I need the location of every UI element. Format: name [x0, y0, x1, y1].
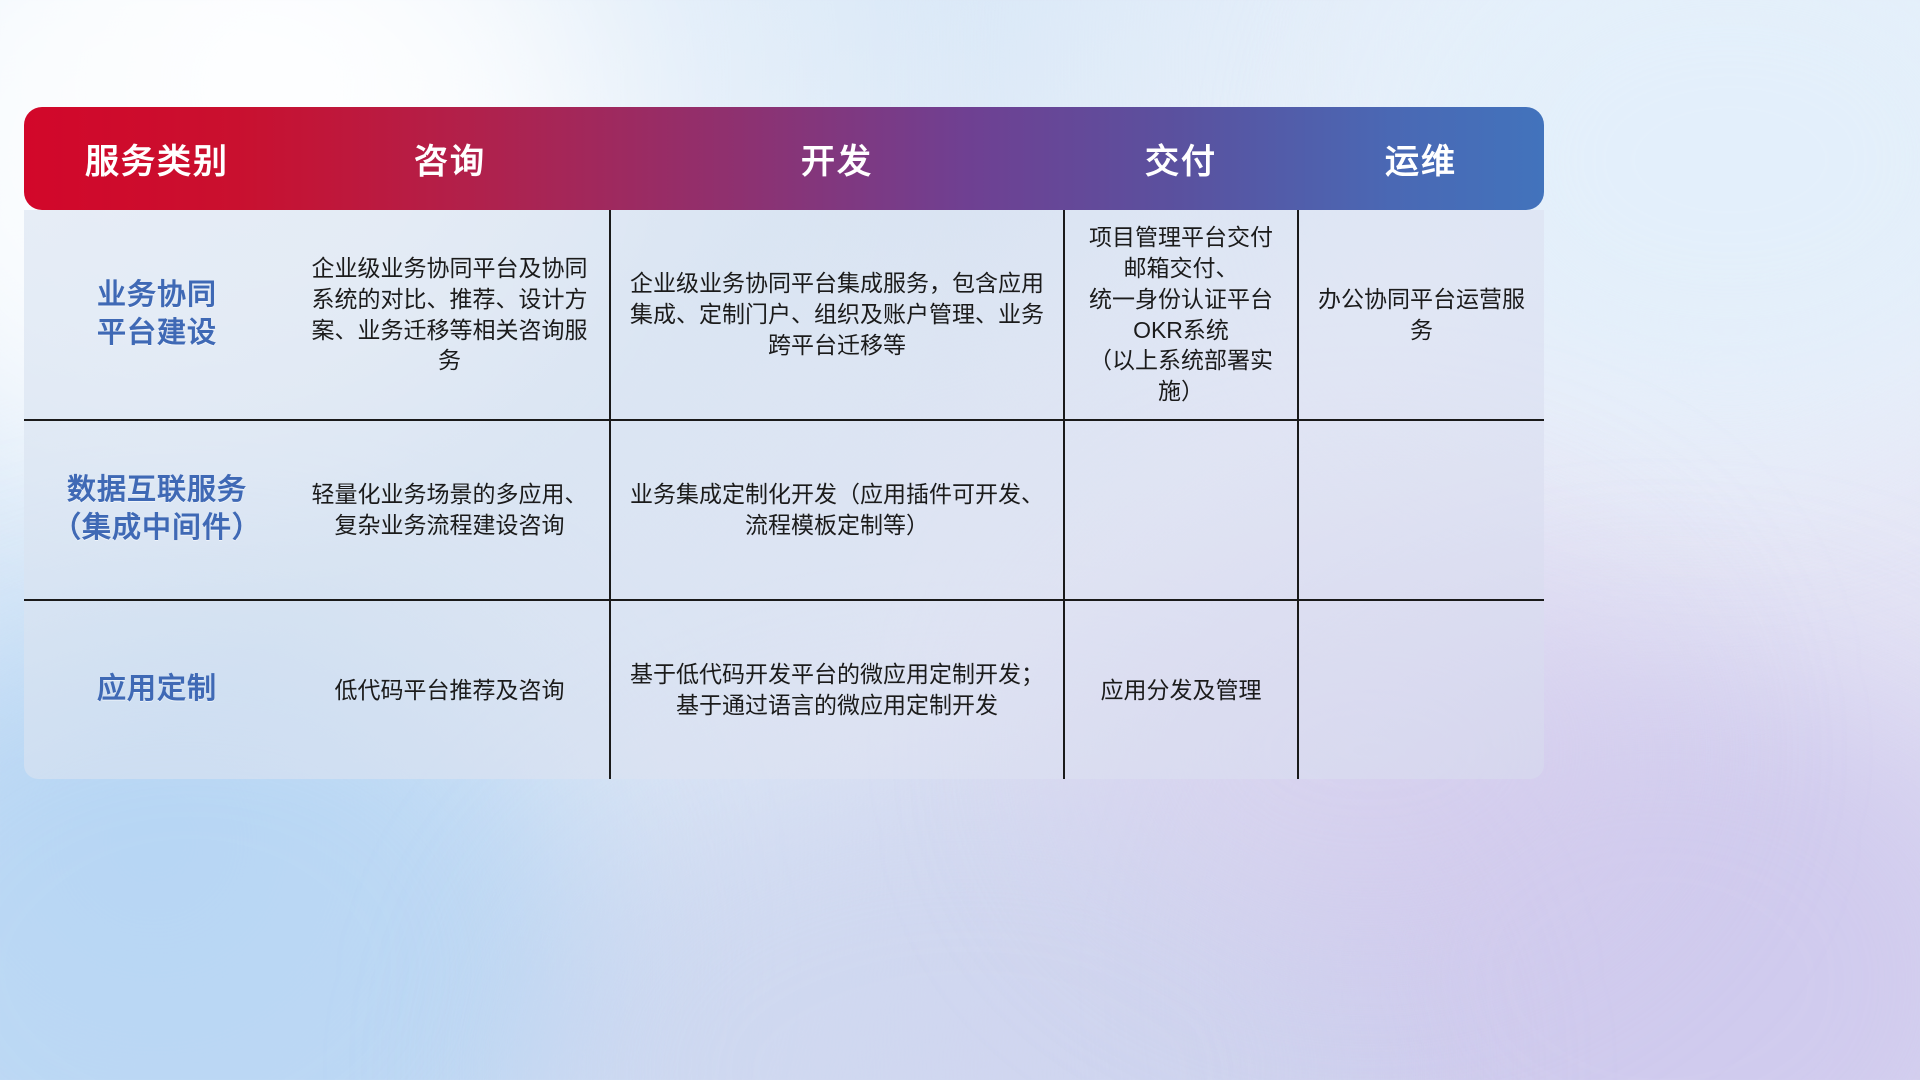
table-row: 数据互联服务 （集成中间件） 轻量化业务场景的多应用、复杂业务流程建设咨询 业务…	[24, 420, 1544, 600]
table-body: 业务协同 平台建设 企业级业务协同平台及协同系统的对比、推荐、设计方案、业务迁移…	[24, 210, 1544, 779]
header-label-category: 服务类别	[85, 143, 229, 181]
cell-operations-row3	[1298, 600, 1544, 779]
cell-line: 基于通过语言的微应用定制开发	[625, 690, 1049, 721]
cell-line: （以上系统部署实施）	[1079, 345, 1283, 407]
cell-line: 基于低代码开发平台的微应用定制开发；	[625, 659, 1049, 690]
header-cell-consulting: 咨询	[290, 107, 610, 210]
header-label-operations: 运维	[1385, 143, 1457, 181]
cell-line: OKR系统	[1079, 315, 1283, 346]
table-row: 应用定制 低代码平台推荐及咨询 基于低代码开发平台的微应用定制开发； 基于通过语…	[24, 600, 1544, 779]
service-category-table: 服务类别 咨询 开发 交付 运维 业务协同	[24, 107, 1544, 779]
cell-delivery-row1: 项目管理平台交付 邮箱交付、 统一身份认证平台 OKR系统 （以上系统部署实施）	[1064, 210, 1298, 420]
row-label-line: 数据互联服务	[38, 472, 276, 510]
cell-line: 邮箱交付、	[1079, 253, 1283, 284]
header-cell-delivery: 交付	[1064, 107, 1298, 210]
row-label-line: （集成中间件）	[38, 510, 276, 548]
row-label-data-interconnect: 数据互联服务 （集成中间件）	[24, 420, 290, 600]
service-matrix: 服务类别 咨询 开发 交付 运维 业务协同	[24, 107, 1544, 779]
row-label-line: 平台建设	[38, 315, 276, 353]
header-cell-development: 开发	[610, 107, 1064, 210]
header-cell-category: 服务类别	[24, 107, 290, 210]
background-blob-bottom-center	[520, 760, 1420, 1080]
header-label-consulting: 咨询	[414, 143, 486, 181]
cell-consulting-row2: 轻量化业务场景的多应用、复杂业务流程建设咨询	[290, 420, 610, 600]
table-row: 业务协同 平台建设 企业级业务协同平台及协同系统的对比、推荐、设计方案、业务迁移…	[24, 210, 1544, 420]
header-cell-operations: 运维	[1298, 107, 1544, 210]
cell-line: 统一身份认证平台	[1079, 284, 1283, 315]
row-label-business-collaboration: 业务协同 平台建设	[24, 210, 290, 420]
cell-operations-row2	[1298, 420, 1544, 600]
cell-development-row1: 企业级业务协同平台集成服务，包含应用集成、定制门户、组织及账户管理、业务跨平台迁…	[610, 210, 1064, 420]
header-label-development: 开发	[801, 143, 873, 181]
cell-delivery-row3: 应用分发及管理	[1064, 600, 1298, 779]
cell-consulting-row1: 企业级业务协同平台及协同系统的对比、推荐、设计方案、业务迁移等相关咨询服务	[290, 210, 610, 420]
cell-development-row2: 业务集成定制化开发（应用插件可开发、流程模板定制等）	[610, 420, 1064, 600]
cell-operations-row1: 办公协同平台运营服务	[1298, 210, 1544, 420]
header-label-delivery: 交付	[1145, 143, 1217, 181]
row-label-line: 业务协同	[38, 277, 276, 315]
table-header: 服务类别 咨询 开发 交付 运维	[24, 107, 1544, 210]
cell-delivery-row2	[1064, 420, 1298, 600]
row-label-line: 应用定制	[38, 671, 276, 709]
cell-development-row3: 基于低代码开发平台的微应用定制开发； 基于通过语言的微应用定制开发	[610, 600, 1064, 779]
cell-consulting-row3: 低代码平台推荐及咨询	[290, 600, 610, 779]
header-row: 服务类别 咨询 开发 交付 运维	[24, 107, 1544, 210]
cell-line: 项目管理平台交付	[1079, 222, 1283, 253]
row-label-app-customization: 应用定制	[24, 600, 290, 779]
